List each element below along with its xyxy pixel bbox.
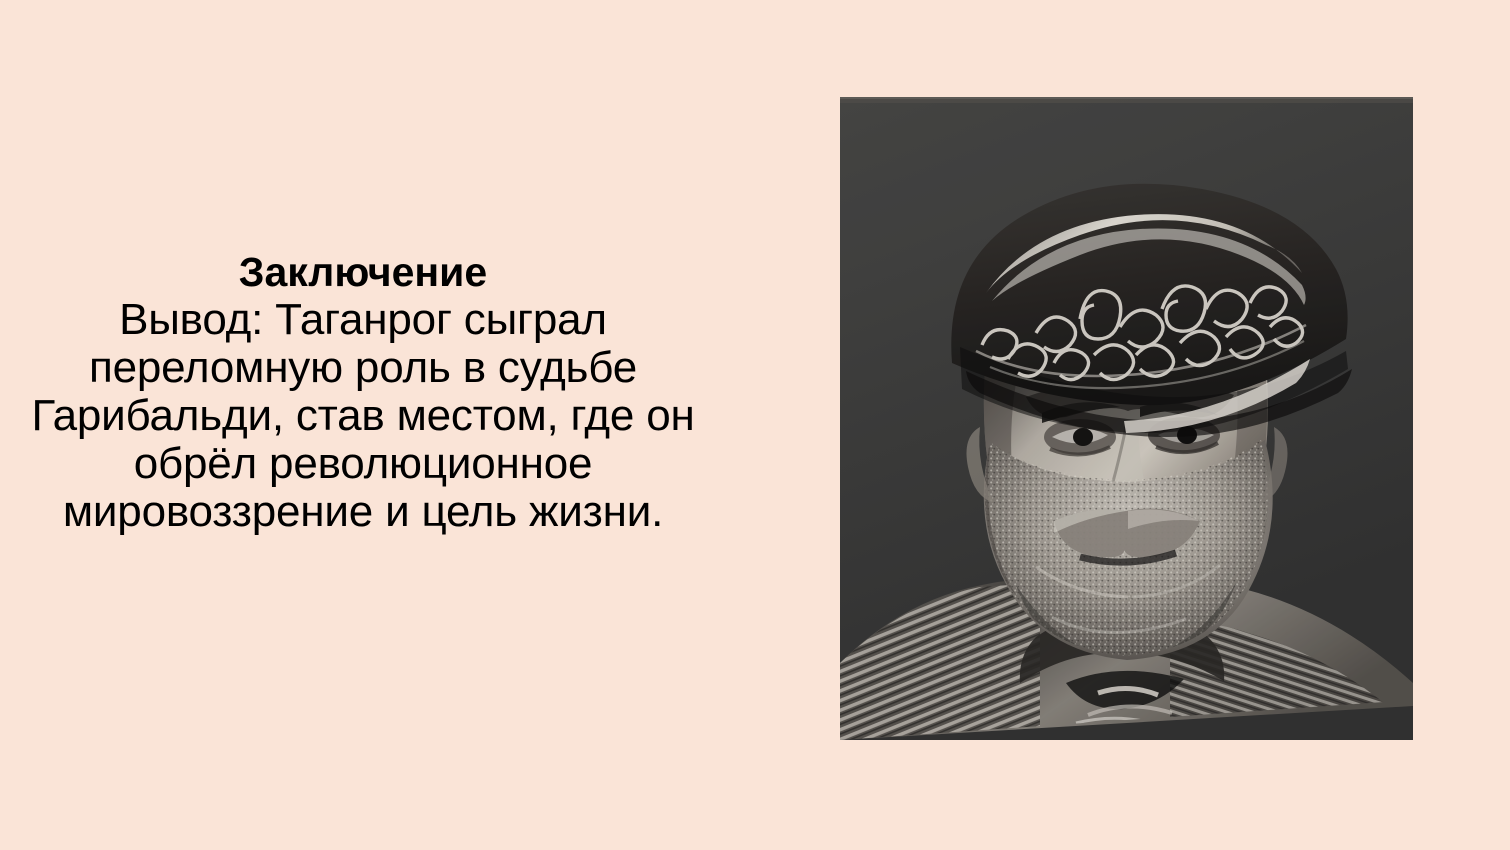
body-line-2: переломную роль в судьбе (0, 344, 726, 392)
garibaldi-portrait-photo (840, 97, 1413, 740)
body-line-1: Вывод: Таганрог сыграл (0, 296, 726, 344)
body-line-5: мировоззрение и цель жизни. (0, 488, 726, 536)
slide-title: Заключение (0, 248, 726, 296)
slide-text-block: Заключение Вывод: Таганрог сыграл перело… (0, 248, 726, 536)
body-line-4: обрёл революционное (0, 440, 726, 488)
portrait-illustration (840, 97, 1413, 740)
body-line-3: Гарибальди, став местом, где он (0, 392, 726, 440)
slide-canvas: Заключение Вывод: Таганрог сыграл перело… (0, 0, 1510, 850)
